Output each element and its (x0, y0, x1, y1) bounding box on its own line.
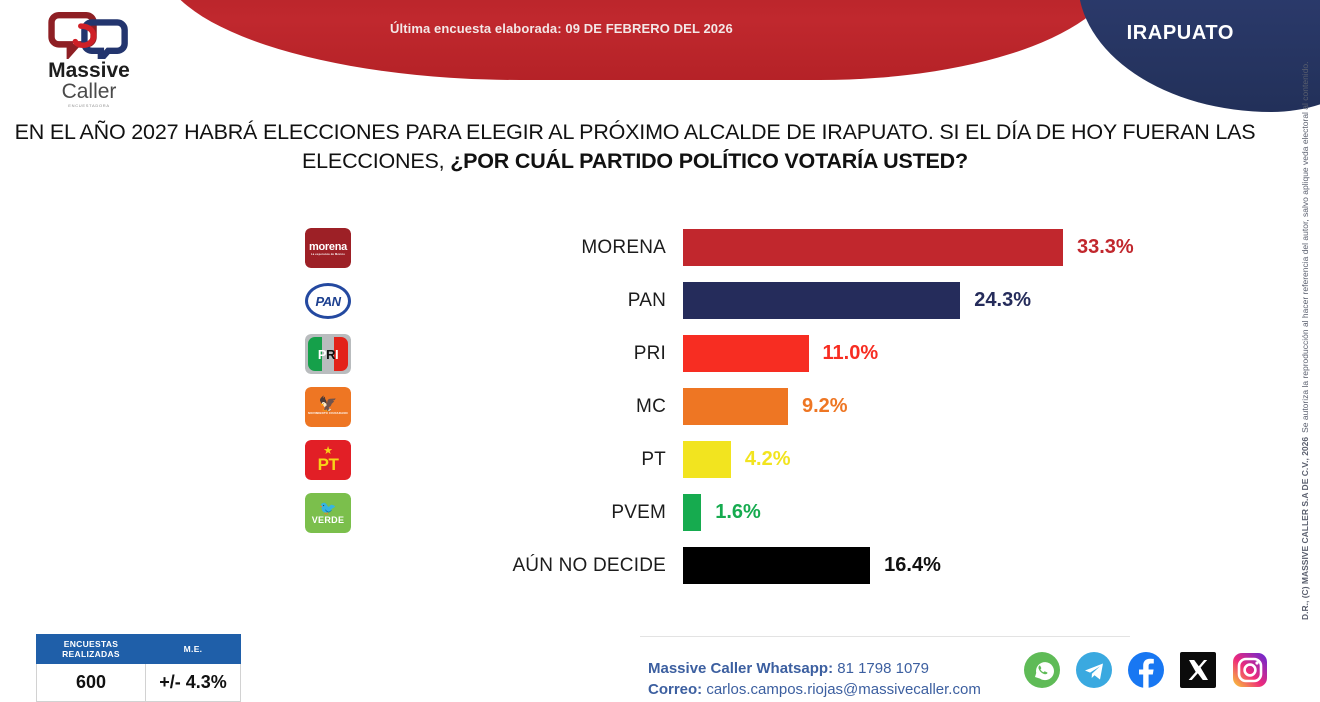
chart-row: AÚN NO DECIDE16.4% (0, 540, 1270, 591)
logo-line-1: Massive (48, 61, 130, 81)
bar-value-label: 33.3% (1077, 222, 1134, 273)
header-line-2: REALIZADAS (43, 649, 139, 659)
whatsapp-number[interactable]: 81 1798 1079 (833, 660, 929, 677)
whatsapp-label: Massive Caller Whatsapp: (648, 660, 833, 677)
header-margin-error: M.E. (146, 635, 241, 664)
massive-caller-logo: Massive Caller ENCUESTADORA (34, 4, 144, 108)
chart-row: ★PTPT4.2% (0, 434, 1270, 485)
email-label: Correo: (648, 681, 702, 698)
margin-error-value: +/- 4.3% (146, 664, 241, 702)
instagram-icon[interactable] (1230, 650, 1270, 690)
bar-value-label: 16.4% (884, 540, 941, 591)
copyright-main: D.R., (C) MASSIVE CALLER S.A DE C.V., 20… (1300, 437, 1310, 620)
facebook-icon[interactable] (1126, 650, 1166, 690)
chart-row: PANPAN24.3% (0, 275, 1270, 326)
logo-line-2: Caller (62, 81, 117, 102)
whatsapp-line: Massive Caller Whatsapp: 81 1798 1079 (648, 658, 981, 679)
survey-date-label: Última encuesta elaborada: 09 DE FEBRERO… (390, 21, 733, 36)
category-label: PVEM (380, 487, 666, 538)
header-encuestas-realizadas: ENCUESTAS REALIZADAS (37, 635, 146, 664)
party-logo-morena: morenaLa esperanza de México (305, 228, 351, 268)
copyright-vertical: D.R., (C) MASSIVE CALLER S.A DE C.V., 20… (1292, 112, 1318, 620)
party-logo-pri: PRI (305, 334, 351, 374)
red-header-shape (160, 0, 1120, 80)
vote-intention-bar-chart: morenaLa esperanza de MéxicoMORENA33.3%P… (0, 222, 1270, 593)
bar (683, 441, 731, 478)
bar-value-label: 9.2% (802, 381, 848, 432)
bar (683, 229, 1063, 266)
bar (683, 547, 870, 584)
table-row: 600 +/- 4.3% (37, 664, 241, 702)
contact-info: Massive Caller Whatsapp: 81 1798 1079 Co… (648, 658, 981, 700)
sample-size-value: 600 (37, 664, 146, 702)
chart-row: 🦅MOVIMIENTO CIUDADANOMC9.2% (0, 381, 1270, 432)
survey-stats-table: ENCUESTAS REALIZADAS M.E. 600 +/- 4.3% (36, 634, 241, 702)
category-label: MORENA (380, 222, 666, 273)
bar-value-label: 11.0% (823, 328, 879, 379)
category-label: PRI (380, 328, 666, 379)
header-banner (0, 0, 1320, 112)
party-logo-none (305, 546, 351, 586)
footer-divider (640, 636, 1130, 637)
copyright-note: Se autoriza la reproducción al hacer ref… (1300, 61, 1310, 432)
bar (683, 388, 788, 425)
bar (683, 335, 809, 372)
party-logo-mc: 🦅MOVIMIENTO CIUDADANO (305, 387, 351, 427)
category-label: MC (380, 381, 666, 432)
chart-row: morenaLa esperanza de MéxicoMORENA33.3% (0, 222, 1270, 273)
party-logo-verde: 🐦VERDE (305, 493, 351, 533)
question-bold: ¿POR CUÁL PARTIDO POLÍTICO VOTARÍA USTED… (450, 149, 968, 173)
chart-row: 🐦VERDEPVEM1.6% (0, 487, 1270, 538)
category-label: AÚN NO DECIDE (380, 540, 666, 591)
logo-tagline: ENCUESTADORA (68, 103, 109, 108)
email-address[interactable]: carlos.campos.riojas@massivecaller.com (702, 681, 981, 698)
header-line-1: ENCUESTAS (43, 639, 139, 649)
city-name-label: IRAPUATO (1127, 22, 1234, 45)
navy-header-shape (1078, 0, 1320, 112)
category-label: PT (380, 434, 666, 485)
telegram-icon[interactable] (1074, 650, 1114, 690)
x-icon[interactable] (1178, 650, 1218, 690)
party-logo-pt: ★PT (305, 440, 351, 480)
social-links (1022, 650, 1270, 690)
bar-value-label: 1.6% (715, 487, 761, 538)
bar-value-label: 24.3% (974, 275, 1031, 326)
bar-value-label: 4.2% (745, 434, 791, 485)
party-logo-pan: PAN (305, 281, 351, 321)
chart-row: PRIPRI11.0% (0, 328, 1270, 379)
bar (683, 282, 960, 319)
logo-bubbles-icon (46, 6, 132, 59)
bar (683, 494, 701, 531)
category-label: PAN (380, 275, 666, 326)
question-title: EN EL AÑO 2027 HABRÁ ELECCIONES PARA ELE… (0, 118, 1270, 176)
whatsapp-icon[interactable] (1022, 650, 1062, 690)
email-line: Correo: carlos.campos.riojas@massivecall… (648, 679, 981, 700)
table-header-row: ENCUESTAS REALIZADAS M.E. (37, 635, 241, 664)
